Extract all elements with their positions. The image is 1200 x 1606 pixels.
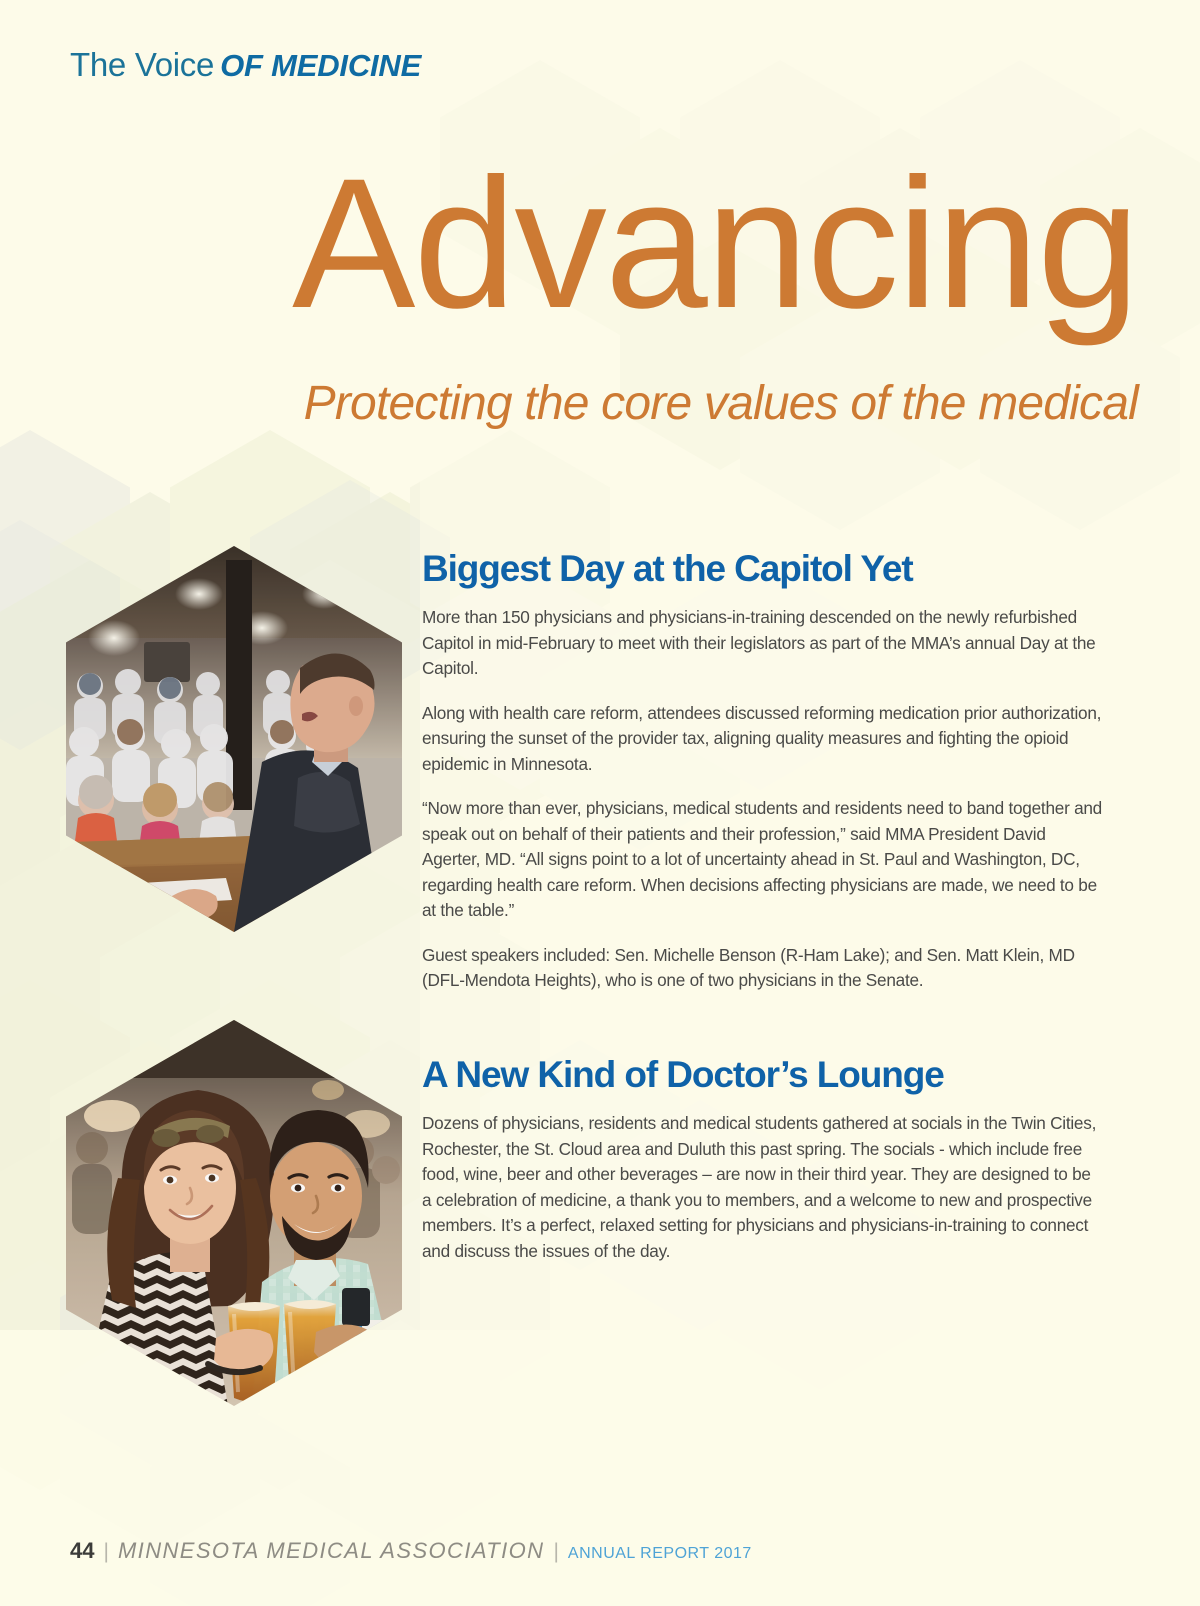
footer-divider-2: |: [553, 1540, 558, 1563]
masthead: The VoiceOF MEDICINE: [70, 48, 421, 81]
article-column: Biggest Day at the Capitol Yet More than…: [422, 548, 1102, 1264]
masthead-bold-text: OF MEDICINE: [220, 48, 421, 83]
magazine-page: The VoiceOF MEDICINE Advancing Protectin…: [0, 0, 1200, 1606]
paragraph-lounge-1: Dozens of physicians, residents and medi…: [422, 1111, 1102, 1264]
paragraph-capitol-1: More than 150 physicians and physicians-…: [422, 605, 1102, 682]
page-subtitle: Protecting the core values of the medica…: [304, 378, 1138, 431]
paragraph-capitol-4: Guest speakers included: Sen. Michelle B…: [422, 943, 1102, 994]
footer-divider-1: |: [103, 1540, 108, 1563]
footer-report-label: ANNUAL REPORT 2017: [568, 1545, 752, 1562]
footer-page-number: 44: [70, 1538, 94, 1563]
masthead-light-text: The Voice: [70, 46, 214, 83]
paragraph-capitol-2: Along with health care reform, attendees…: [422, 701, 1102, 778]
capitol-speaker-photo: [66, 546, 402, 932]
doctors-lounge-photo: [66, 1020, 402, 1406]
page-title: Advancing: [292, 150, 1138, 339]
footer-organization: MINNESOTA MEDICAL ASSOCIATION: [118, 1538, 544, 1563]
paragraph-capitol-3: “Now more than ever, physicians, medical…: [422, 796, 1102, 924]
page-footer: 44|MINNESOTA MEDICAL ASSOCIATION|ANNUAL …: [70, 1540, 752, 1562]
section-heading-lounge: A New Kind of Doctor’s Lounge: [422, 1054, 1102, 1095]
section-heading-capitol: Biggest Day at the Capitol Yet: [422, 548, 1102, 589]
